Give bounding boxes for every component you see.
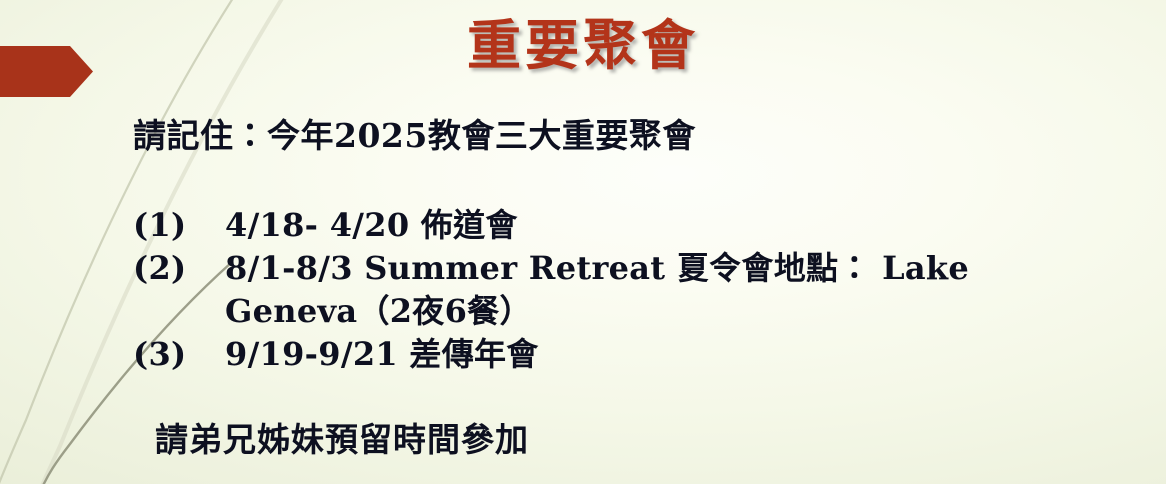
title-container: 重要聚會 — [0, 16, 1166, 74]
agenda-item-text-continuation: Geneva（2夜6餐） — [225, 290, 1133, 333]
slide-title: 重要聚會 — [467, 16, 699, 74]
agenda-item: (3) 9/19-9/21 差傳年會 — [133, 333, 1133, 376]
agenda-item: (1) 4/18- 4/20 佈道會 — [133, 204, 1133, 247]
presentation-slide: 重要聚會 請記住：今年2025教會三大重要聚會 (1) 4/18- 4/20 佈… — [0, 0, 1166, 484]
agenda-item: (2) 8/1-8/3 Summer Retreat 夏令會地點： Lake G… — [133, 247, 1133, 333]
slide-body: 請記住：今年2025教會三大重要聚會 (1) 4/18- 4/20 佈道會 (2… — [0, 108, 1166, 484]
agenda-item-text-line1: 8/1-8/3 Summer Retreat 夏令會地點： Lake — [225, 249, 969, 287]
agenda-list: (1) 4/18- 4/20 佈道會 (2) 8/1-8/3 Summer Re… — [133, 204, 1133, 376]
agenda-item-text: 4/18- 4/20 佈道會 — [225, 204, 1133, 247]
agenda-item-marker: (1) — [133, 204, 225, 247]
agenda-item-marker: (3) — [133, 333, 225, 376]
agenda-item-marker: (2) — [133, 247, 225, 290]
lead-statement: 請記住：今年2025教會三大重要聚會 — [133, 116, 696, 156]
agenda-item-text: 8/1-8/3 Summer Retreat 夏令會地點： Lake Genev… — [225, 247, 1133, 333]
closing-statement: 請弟兄姊妹預留時間參加 — [155, 420, 529, 460]
agenda-item-text: 9/19-9/21 差傳年會 — [225, 333, 1133, 376]
